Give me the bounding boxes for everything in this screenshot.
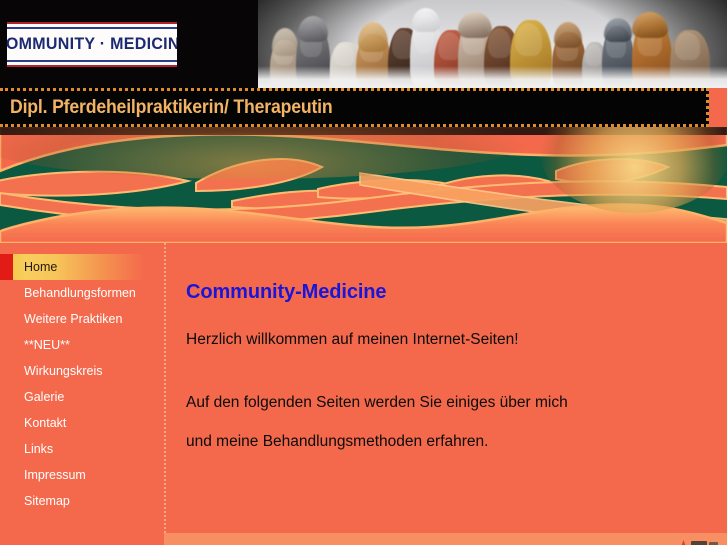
intro-paragraph-line-2: und meine Behandlungsmethoden erfahren. [186, 434, 706, 450]
sidebar-navigation: Home Behandlungsformen Weitere Praktiken… [0, 243, 164, 545]
sidebar-item-label: Behandlungsformen [24, 286, 136, 300]
sidebar-top-spacer [0, 243, 164, 254]
sidebar-item-neu[interactable]: **NEU** [0, 332, 164, 358]
main-area: Home Behandlungsformen Weitere Praktiken… [0, 243, 727, 545]
horse-mane-icon [412, 8, 440, 32]
footer-builder-logo-icon[interactable] [679, 537, 723, 545]
welcome-paragraph: Herzlich willkommen auf meinen Internet-… [186, 332, 706, 348]
horse-mane-icon [554, 22, 582, 48]
sidebar-item-label: Weitere Praktiken [24, 312, 122, 326]
horse-banner-image [258, 0, 727, 88]
sidebar-divider [164, 243, 166, 533]
banner-bottom-fade [258, 66, 727, 88]
sidebar-item-impressum[interactable]: Impressum [0, 462, 164, 488]
sidebar-item-sitemap[interactable]: Sitemap [0, 488, 164, 514]
horse-mane-icon [604, 18, 632, 42]
sidebar-item-wirkungskreis[interactable]: Wirkungskreis [0, 358, 164, 384]
logo-rule-top [7, 27, 177, 29]
site-subtitle: Dipl. Pferdeheilpraktikerin/ Therapeutin [10, 97, 332, 119]
active-marker-icon [0, 254, 13, 280]
footer-logo-triangle-icon [681, 540, 686, 545]
horse-mane-icon [358, 22, 388, 52]
horse-mane-icon [298, 16, 328, 42]
sidebar-item-kontakt[interactable]: Kontakt [0, 410, 164, 436]
horse-mane-icon [458, 12, 492, 38]
sidebar-item-home[interactable]: Home [0, 254, 164, 280]
sidebar-item-links[interactable]: Links [0, 436, 164, 462]
decorative-wave-banner [0, 127, 727, 243]
site-logo[interactable]: COMMUNITY · MEDICINE [7, 22, 177, 67]
sidebar-item-behandlungsformen[interactable]: Behandlungsformen [0, 280, 164, 306]
sidebar-item-label: Impressum [24, 468, 86, 482]
site-header: COMMUNITY · MEDICINE [0, 0, 727, 88]
page-root: COMMUNITY · MEDICINE Dipl. Pferdeheilpra… [0, 0, 727, 545]
site-subtitle-bar: Dipl. Pferdeheilpraktikerin/ Therapeutin [0, 88, 709, 127]
wave-graphic [0, 127, 727, 243]
horse-mane-icon [272, 28, 298, 56]
logo-rule-bottom [7, 60, 177, 62]
sidebar-item-galerie[interactable]: Galerie [0, 384, 164, 410]
sidebar-item-label: Sitemap [24, 494, 70, 508]
sidebar-item-weitere-praktiken[interactable]: Weitere Praktiken [0, 306, 164, 332]
logo-text: COMMUNITY · MEDICINE [7, 35, 177, 54]
page-title: Community-Medicine [186, 281, 706, 304]
sidebar-item-label: Wirkungskreis [24, 364, 103, 378]
footer-logo-block-icon [691, 541, 707, 545]
sidebar-item-label: Links [24, 442, 53, 456]
sidebar-item-label: Galerie [24, 390, 64, 404]
footer-bar [164, 533, 727, 545]
sidebar-item-label: **NEU** [24, 338, 70, 352]
sidebar-item-label: Home [24, 260, 57, 274]
sidebar-item-label: Kontakt [24, 416, 66, 430]
intro-paragraph-line-1: Auf den folgenden Seiten werden Sie eini… [186, 395, 706, 411]
content-column: Community-Medicine Herzlich willkommen a… [186, 243, 706, 450]
horse-mane-icon [632, 12, 668, 38]
